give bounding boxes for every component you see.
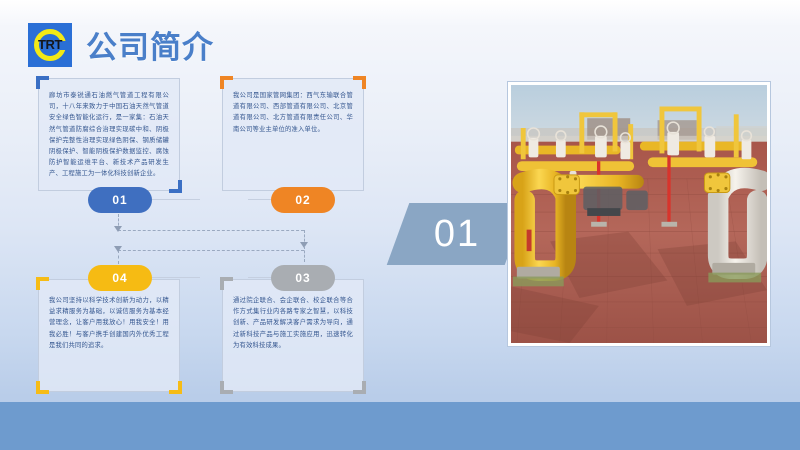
connector-line-top-left xyxy=(152,199,200,200)
step-badge-01[interactable]: 01 xyxy=(88,187,152,213)
info-card-01: 廊坊市泰锐通石油燃气管道工程有限公司，十八年来致力于中国石油天然气管道安全绿色智… xyxy=(38,78,180,191)
flow-arrow-down-a xyxy=(114,226,122,232)
info-card-02: 我公司是国家管网集团：西气东输联合管道有限公司、西部管道有限公司、北京管道有限公… xyxy=(222,78,364,191)
slide-header: TRT 公司简介 xyxy=(28,22,214,67)
flow-dash-vertical-d xyxy=(118,250,119,264)
step-badge-04[interactable]: 04 xyxy=(88,265,152,291)
bottom-color-band xyxy=(0,402,800,450)
corner-bracket-bottom-right xyxy=(169,381,182,394)
corner-bracket-top-left xyxy=(220,277,233,290)
section-number-chevron: 01 xyxy=(387,203,528,265)
info-card-03: 通过院企联合、会企联合、校企联合等合作方式集行业内各路专家之智慧，以科技创新、产… xyxy=(222,279,364,392)
info-card-02-text: 我公司是国家管网集团：西气东输联合管道有限公司、西部管道有限公司、北京管道有限公… xyxy=(223,79,363,135)
step-badge-01-label: 01 xyxy=(112,193,127,207)
corner-bracket-bottom-left xyxy=(220,381,233,394)
gas-pipeline-station-photo xyxy=(508,82,770,346)
corner-bracket-bottom-right xyxy=(169,180,182,193)
corner-bracket-bottom-right xyxy=(353,381,366,394)
step-badge-03[interactable]: 03 xyxy=(271,265,335,291)
flow-dash-horizontal-a xyxy=(118,230,304,231)
step-badge-02[interactable]: 02 xyxy=(271,187,335,213)
corner-bracket-top-left xyxy=(36,76,49,89)
corner-bracket-bottom-left xyxy=(36,381,49,394)
photo-illustration xyxy=(511,85,767,343)
connector-line-bottom-left xyxy=(152,277,200,278)
corner-bracket-top-left xyxy=(36,277,49,290)
flow-dash-vertical-c xyxy=(304,246,305,262)
company-logo-icon: TRT xyxy=(28,23,72,67)
flow-arrow-down-c xyxy=(114,246,122,252)
page-title: 公司简介 xyxy=(86,22,214,67)
section-number-label: 01 xyxy=(434,213,480,256)
slide-canvas: TRT 公司简介 廊坊市泰锐通石油燃气管道工程有限公司，十八年来致力于中国石油天… xyxy=(0,0,800,450)
flow-dash-horizontal-b xyxy=(118,250,304,251)
step-badge-03-label: 03 xyxy=(295,271,310,285)
corner-bracket-top-right xyxy=(353,76,366,89)
info-card-01-text: 廊坊市泰锐通石油燃气管道工程有限公司，十八年来致力于中国石油天然气管道安全绿色智… xyxy=(39,79,179,180)
logo-wordmark: TRT xyxy=(38,37,62,52)
corner-bracket-top-left xyxy=(220,76,233,89)
step-badge-02-label: 02 xyxy=(295,193,310,207)
info-card-04: 我公司坚持以科学技术创新为动力，以精益求精服务为基础，以诚信服务为基本经营理念，… xyxy=(38,279,180,392)
step-badge-04-label: 04 xyxy=(112,271,127,285)
